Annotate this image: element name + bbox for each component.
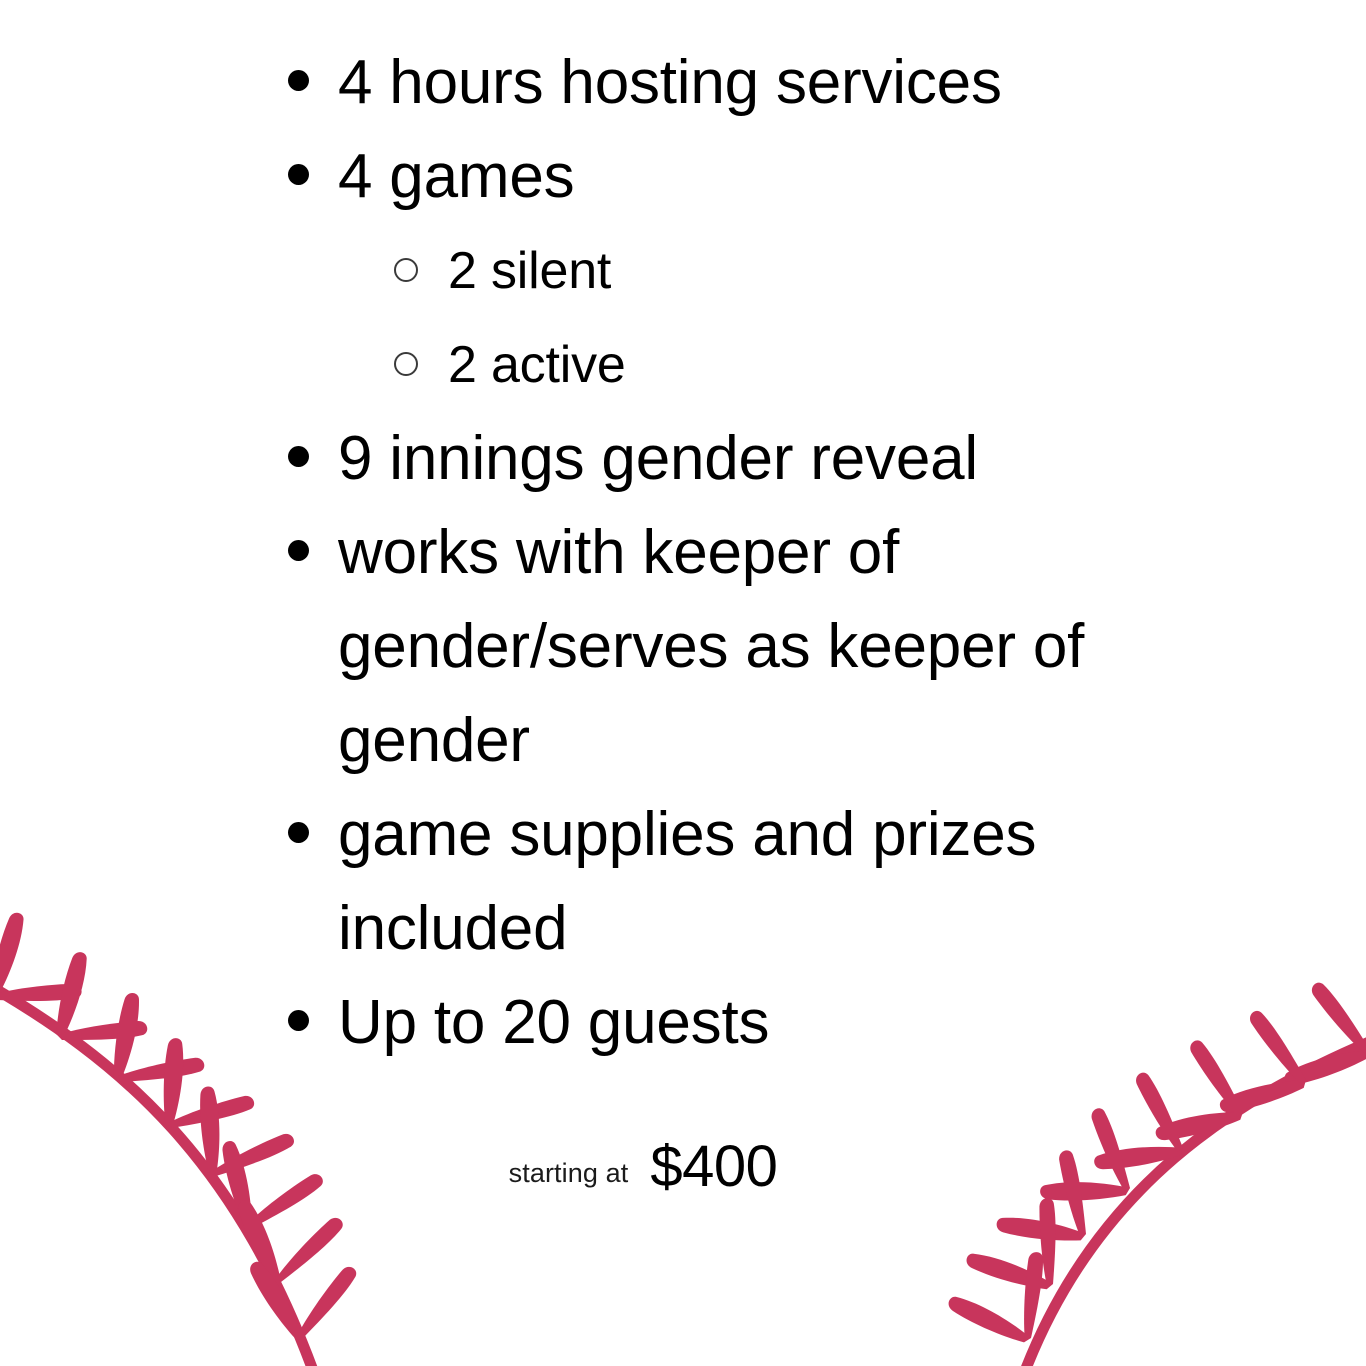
bullet-circle-icon — [388, 318, 448, 412]
list-item: 2 silent — [280, 224, 1240, 318]
bullet-dot-icon — [280, 36, 338, 130]
list-item-label: 4 hours hosting services — [338, 36, 1240, 130]
package-feature-list: 4 hours hosting services 4 games 2 silen… — [280, 36, 1240, 1070]
list-item: 2 active — [280, 318, 1240, 412]
list-item: 4 hours hosting services — [280, 36, 1240, 130]
slide-canvas: 4 hours hosting services 4 games 2 silen… — [0, 0, 1366, 1366]
list-item-label: Up to 20 guests — [338, 976, 1240, 1070]
list-item-label: game supplies and prizes included — [338, 788, 1240, 976]
bullet-dot-icon — [280, 130, 338, 224]
list-item: game supplies and prizes included — [280, 788, 1240, 976]
list-item-label: 9 innings gender reveal — [338, 412, 1240, 506]
price-amount: $400 — [650, 1138, 777, 1196]
bullet-circle-icon — [388, 224, 448, 318]
list-item: works with keeper of gender/serves as ke… — [280, 506, 1240, 788]
bullet-dot-icon — [280, 412, 338, 506]
list-item-label: 4 games — [338, 130, 1240, 224]
price-label: starting at — [509, 1160, 629, 1187]
bullet-dot-icon — [280, 506, 338, 600]
list-item-label: 2 silent — [448, 224, 1240, 318]
list-item: 4 games — [280, 130, 1240, 224]
list-item-label: 2 active — [448, 318, 1240, 412]
list-item: Up to 20 guests — [280, 976, 1240, 1070]
slide-content: 4 hours hosting services 4 games 2 silen… — [0, 0, 1366, 1366]
list-item: 9 innings gender reveal — [280, 412, 1240, 506]
pricing-block: starting at $400 — [0, 1138, 1366, 1196]
bullet-dot-icon — [280, 976, 338, 1070]
bullet-dot-icon — [280, 788, 338, 882]
list-item-label: works with keeper of gender/serves as ke… — [338, 506, 1240, 788]
